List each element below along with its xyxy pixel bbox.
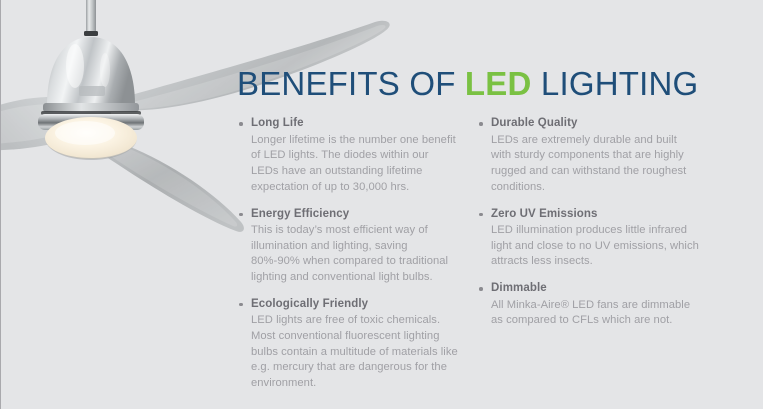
list-item: Durable Quality LEDs are extremely durab…	[477, 116, 699, 195]
list-item: Ecologically Friendly LED lights are fre…	[237, 297, 459, 392]
fan-motor-housing	[47, 37, 135, 105]
title-part-after: LIGHTING	[532, 65, 699, 102]
benefit-title: Dimmable	[491, 281, 699, 297]
fan-downrod	[86, 0, 96, 34]
content-area: BENEFITS OF LED LIGHTING Long Life Longe…	[237, 66, 757, 403]
title-part-before: BENEFITS OF	[237, 65, 465, 102]
benefit-body: LED illumination produces little infrare…	[491, 223, 699, 270]
benefits-columns: Long Life Longer lifetime is the number …	[237, 116, 757, 402]
list-item: Energy Efficiency This is today’s most e…	[237, 207, 459, 286]
left-column: Long Life Longer lifetime is the number …	[237, 116, 459, 402]
title-accent-led: LED	[465, 65, 532, 102]
fan-collar	[43, 103, 139, 112]
benefit-body: LED lights are free of toxic chemicals. …	[251, 313, 459, 391]
benefit-body: Longer lifetime is the number one benefi…	[251, 133, 459, 196]
benefits-of-led-lighting-panel: BENEFITS OF LED LIGHTING Long Life Longe…	[0, 0, 763, 409]
list-item: Zero UV Emissions LED illumination produ…	[477, 207, 699, 271]
benefit-title: Durable Quality	[491, 116, 699, 132]
benefit-title: Energy Efficiency	[251, 207, 459, 223]
benefit-body: All Minka-Aire® LED fans are dimmable as…	[491, 298, 699, 329]
benefit-title: Ecologically Friendly	[251, 297, 459, 313]
benefit-title: Zero UV Emissions	[491, 207, 699, 223]
benefit-title: Long Life	[251, 116, 459, 132]
fan-blade-bottom-right	[99, 136, 244, 232]
fan-light-ring	[38, 114, 144, 130]
right-column: Durable Quality LEDs are extremely durab…	[477, 116, 699, 402]
right-column-list: Durable Quality LEDs are extremely durab…	[477, 116, 699, 329]
left-column-list: Long Life Longer lifetime is the number …	[237, 116, 459, 391]
list-item: Long Life Longer lifetime is the number …	[237, 116, 459, 195]
page-title: BENEFITS OF LED LIGHTING	[237, 66, 757, 102]
fan-blade-left	[1, 97, 111, 150]
list-item: Dimmable All Minka-Aire® LED fans are di…	[477, 281, 699, 329]
benefit-body: This is today’s most efficient way of il…	[251, 223, 459, 286]
benefit-body: LEDs are extremely durable and built wit…	[491, 133, 699, 196]
fan-led-light-lens	[45, 117, 137, 159]
